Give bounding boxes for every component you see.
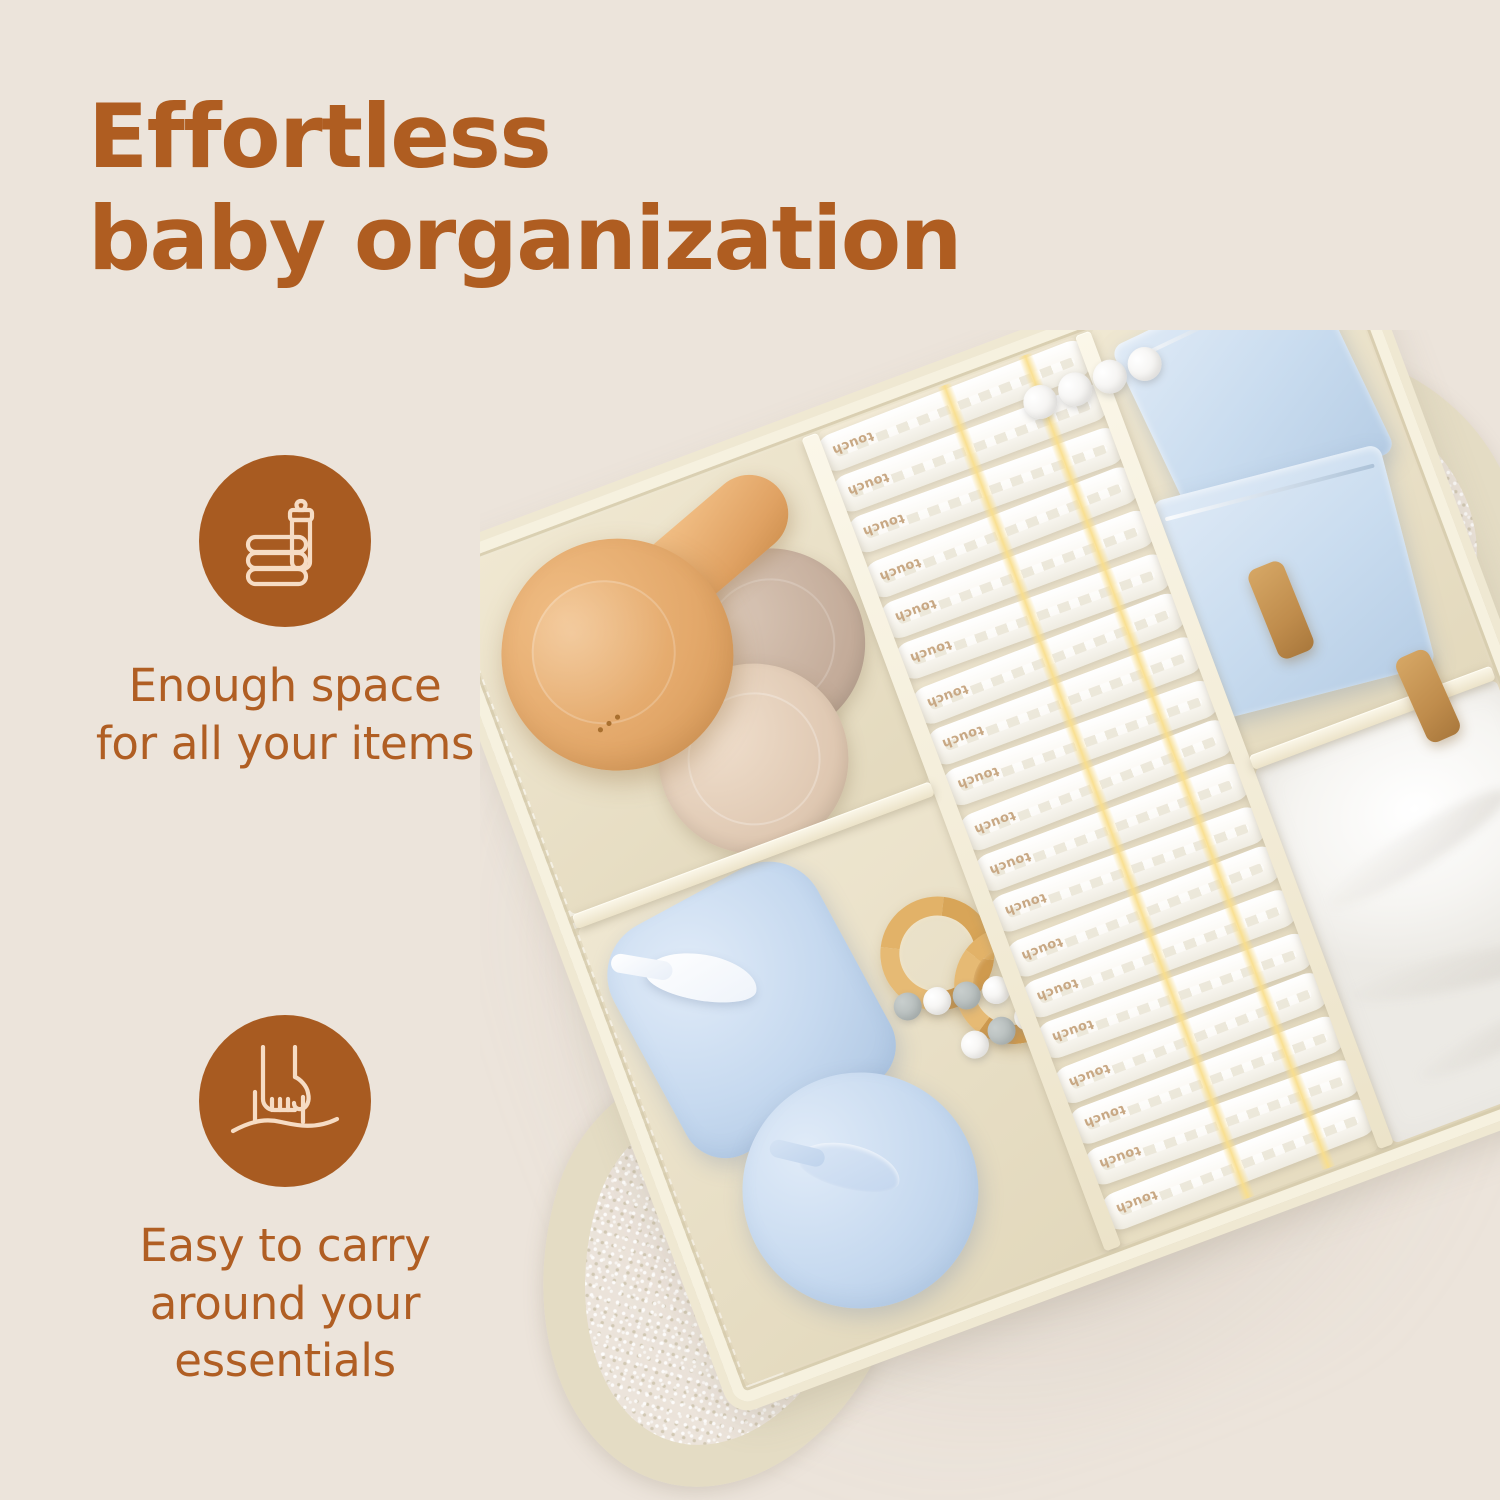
- bottle-and-folded-towels-icon: [199, 455, 371, 627]
- feature-enough-space: Enough space for all your items: [55, 455, 515, 772]
- headline-line-1: Effortless: [88, 86, 988, 188]
- feature-caption-enough-space: Enough space for all your items: [96, 657, 474, 772]
- feature-caption-easy-to-carry: Easy to carry around your essentials: [139, 1217, 430, 1390]
- feature-easy-to-carry: Easy to carry around your essentials: [55, 1015, 515, 1390]
- hand-carrying-handle-icon: [199, 1015, 371, 1187]
- product-photo: touchtouchtouchtouchtouchtouchtouchtouch…: [480, 330, 1500, 1500]
- headline-line-2: baby organization: [88, 188, 988, 290]
- page-title: Effortless baby organization: [88, 86, 988, 290]
- infographic-canvas: Effortless baby organization Enough spac…: [0, 0, 1500, 1500]
